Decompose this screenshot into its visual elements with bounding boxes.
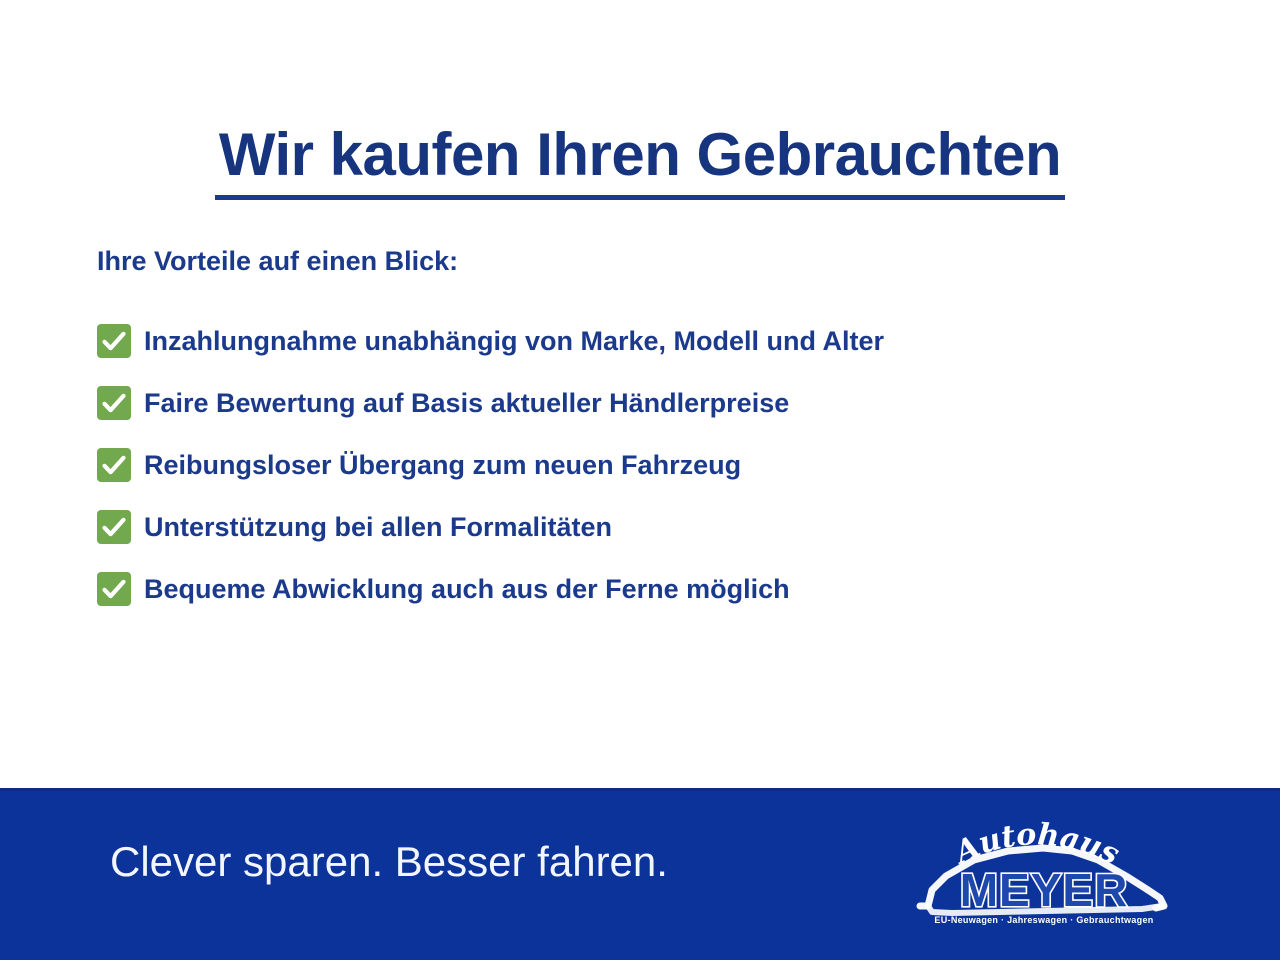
check-square-icon [97, 572, 131, 606]
benefits-list: Inzahlungnahme unabhängig von Marke, Mod… [97, 310, 1227, 620]
slogan-text: Clever sparen. Besser fahren. [110, 838, 668, 886]
banner-top-edge [0, 788, 1280, 791]
list-item-label: Inzahlungnahme unabhängig von Marke, Mod… [144, 326, 884, 357]
list-item-label: Unterstützung bei allen Formalitäten [144, 512, 612, 543]
autohaus-meyer-logo: Autohaus MEYER EU-Neuwagen · Jahreswagen… [912, 810, 1177, 932]
list-item-label: Bequeme Abwicklung auch aus der Ferne mö… [144, 574, 790, 605]
headline-container: Wir kaufen Ihren Gebrauchten [0, 84, 1280, 241]
page-title: Wir kaufen Ihren Gebrauchten [215, 124, 1065, 200]
list-item: Faire Bewertung auf Basis aktueller Händ… [97, 372, 1227, 434]
logo-tagline: EU-Neuwagen · Jahreswagen · Gebrauchtwag… [934, 915, 1153, 925]
check-square-icon [97, 324, 131, 358]
list-item: Inzahlungnahme unabhängig von Marke, Mod… [97, 310, 1227, 372]
check-square-icon [97, 448, 131, 482]
list-item: Reibungsloser Übergang zum neuen Fahrzeu… [97, 434, 1227, 496]
check-square-icon [97, 510, 131, 544]
list-item: Unterstützung bei allen Formalitäten [97, 496, 1227, 558]
advertisement-page: Wir kaufen Ihren Gebrauchten Ihre Vortei… [0, 0, 1280, 960]
list-item-label: Reibungsloser Übergang zum neuen Fahrzeu… [144, 450, 741, 481]
footer-banner: Clever sparen. Besser fahren. Autohaus M… [0, 788, 1280, 960]
benefits-subheading: Ihre Vorteile auf einen Blick: [97, 246, 458, 277]
list-item-label: Faire Bewertung auf Basis aktueller Händ… [144, 388, 789, 419]
list-item: Bequeme Abwicklung auch aus der Ferne mö… [97, 558, 1227, 620]
logo-word-text: MEYER [960, 864, 1129, 916]
check-square-icon [97, 386, 131, 420]
